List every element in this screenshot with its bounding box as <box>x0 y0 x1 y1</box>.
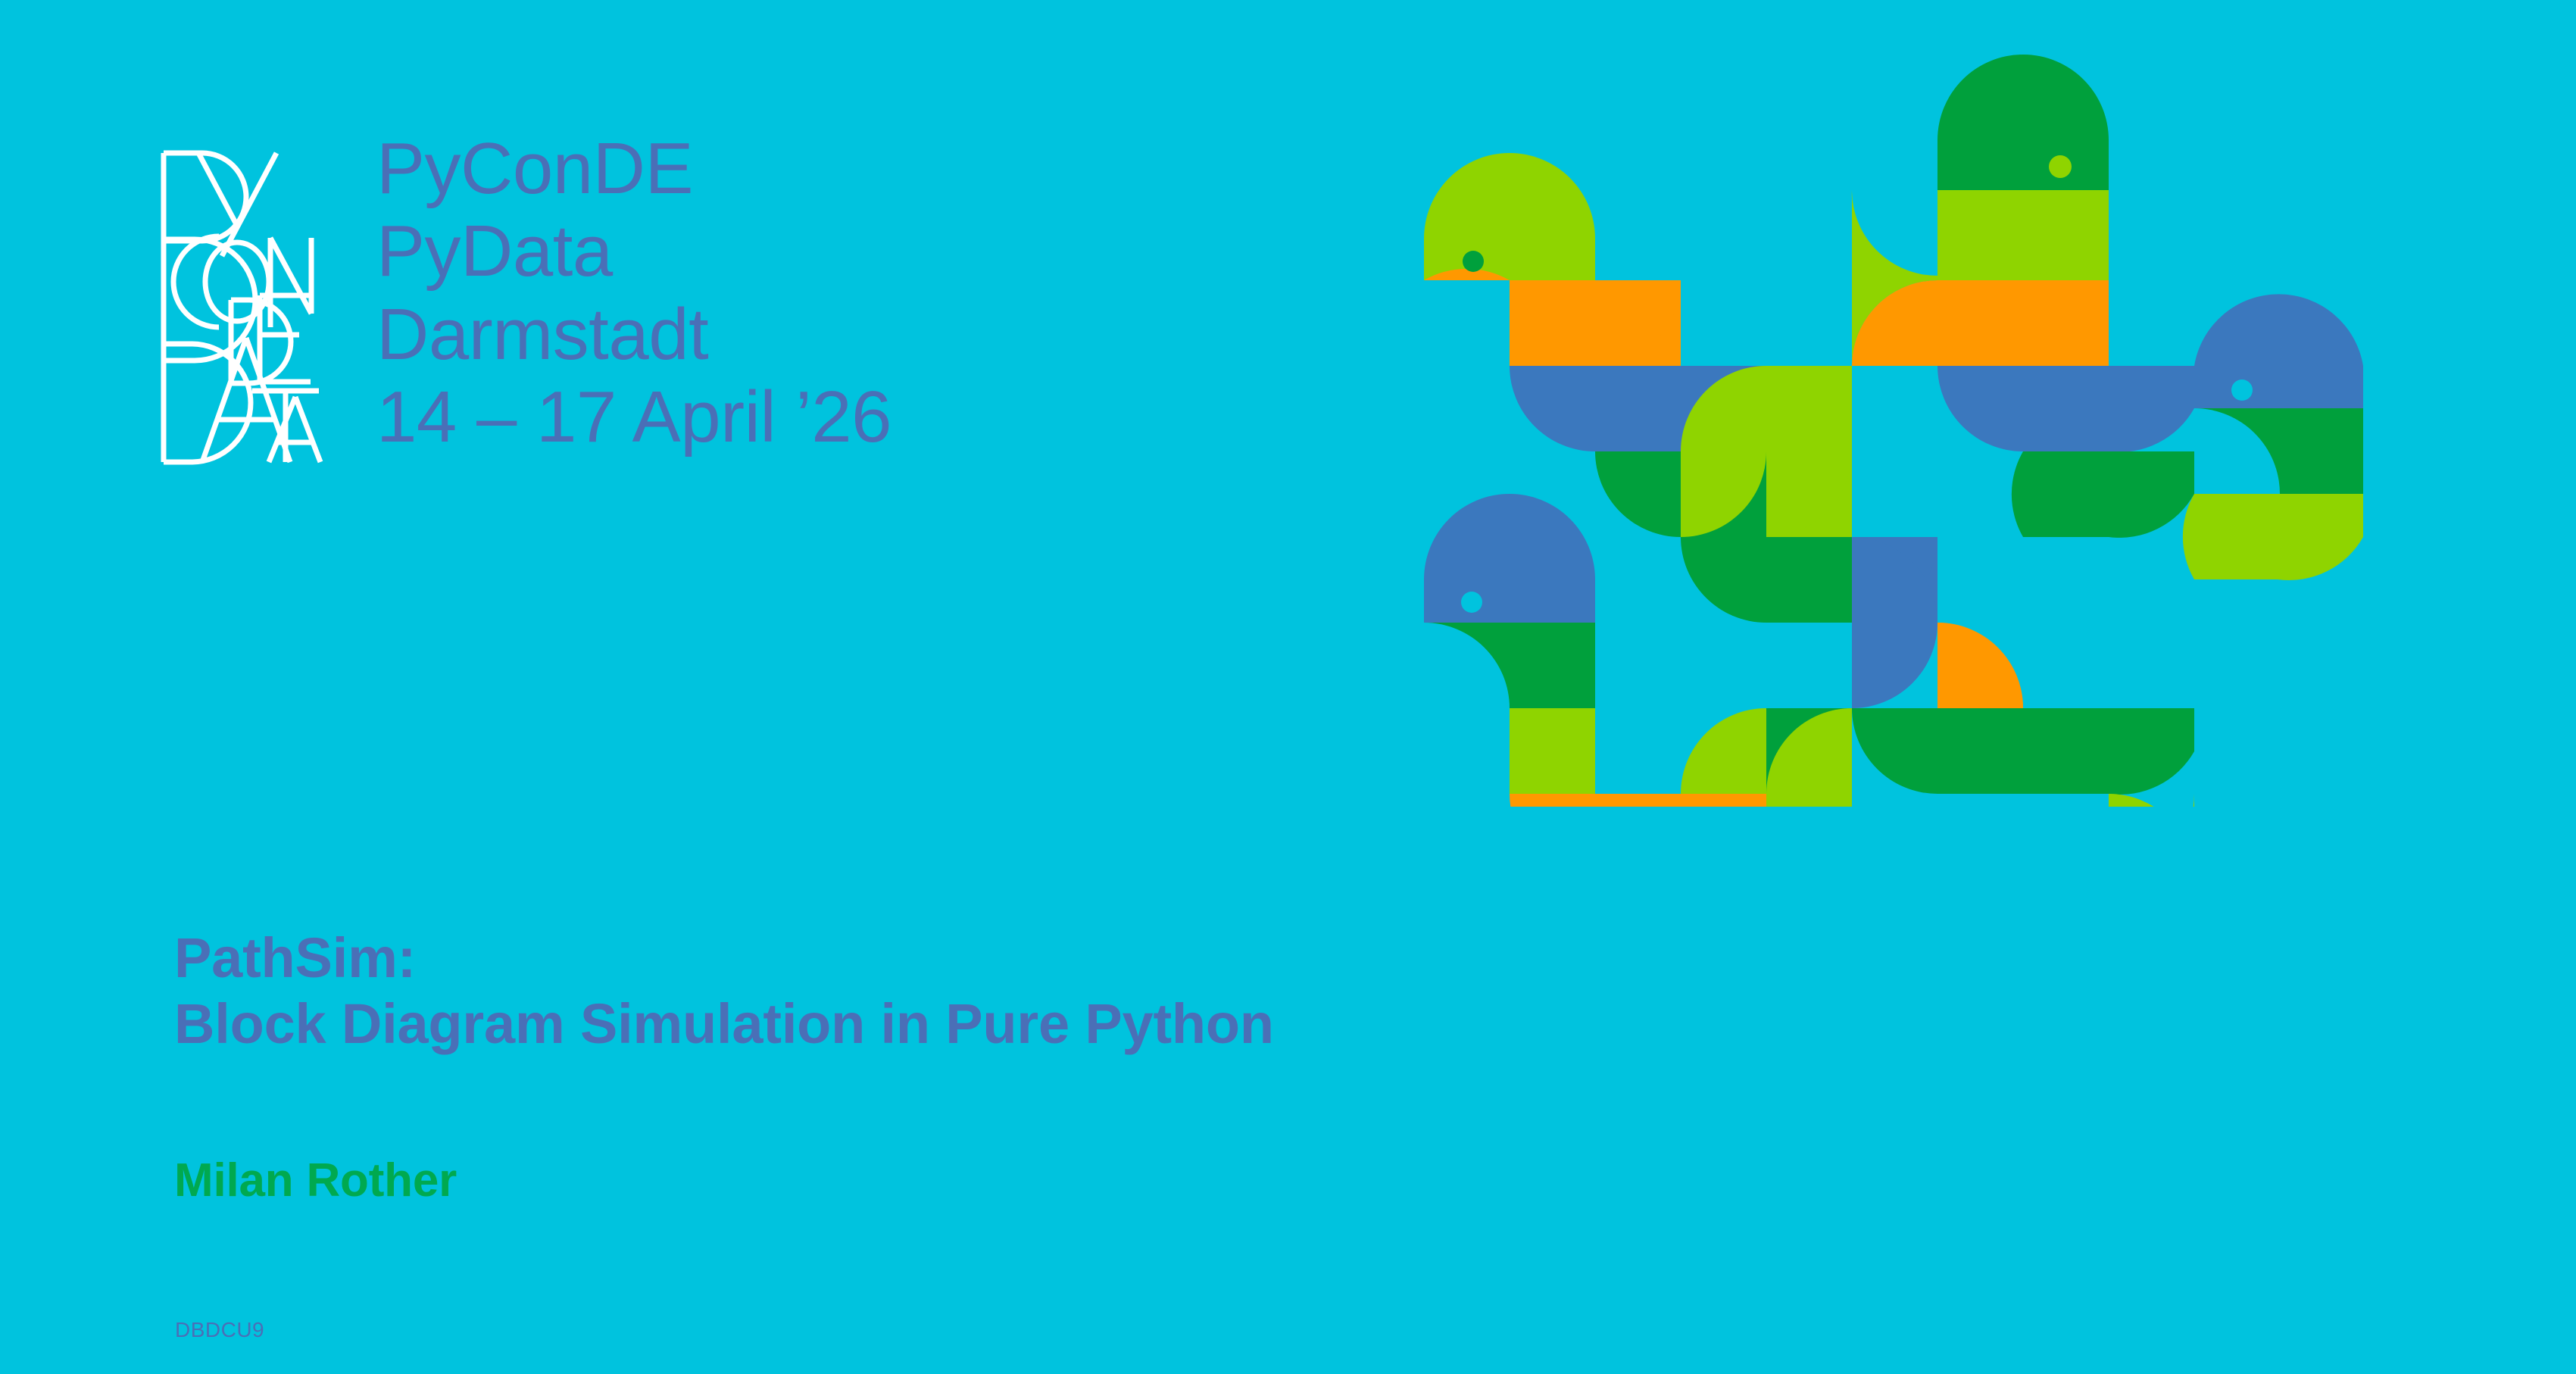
title-line-2: Block Diagram Simulation in Pure Python <box>174 991 1274 1057</box>
pyconde-pydata-logo-icon <box>155 141 328 473</box>
title-line-1: PathSim: <box>174 926 1274 991</box>
slide-code: DBDCU9 <box>175 1318 264 1342</box>
wordmark-line-pyconde: PyConDE <box>376 127 891 210</box>
wordmark-line-dates: 14 – 17 April ’26 <box>376 376 891 458</box>
page-title: PathSim: Block Diagram Simulation in Pur… <box>174 926 1274 1057</box>
geometric-bird-pattern-illustration <box>1424 49 2363 807</box>
conference-wordmark: PyConDE PyData Darmstadt 14 – 17 April ’… <box>376 127 891 459</box>
conference-header: PyConDE PyData Darmstadt 14 – 17 April ’… <box>155 141 891 473</box>
slide-root: PyConDE PyData Darmstadt 14 – 17 April ’… <box>0 0 2576 1374</box>
bird-pattern-tiles <box>1424 55 2363 807</box>
wordmark-line-pydata: PyData <box>376 210 891 292</box>
speaker-name: Milan Rother <box>174 1154 457 1207</box>
wordmark-line-city: Darmstadt <box>376 293 891 376</box>
